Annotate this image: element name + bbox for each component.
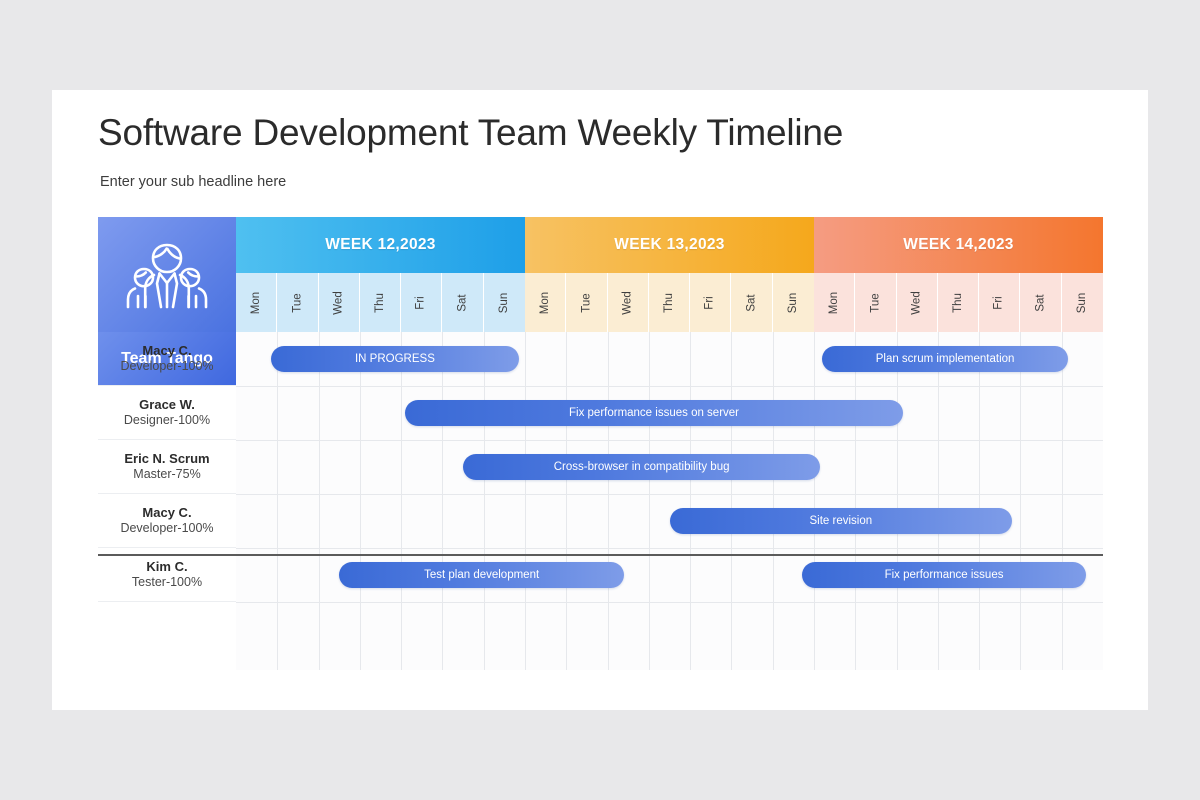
day-label: Mon (539, 291, 551, 313)
grid-line-vertical (319, 332, 320, 670)
resource-name: Macy C. (142, 505, 191, 521)
grid-line-vertical (1020, 332, 1021, 670)
day-label: Fri (704, 296, 716, 309)
day-cell-sun: Sun (484, 273, 525, 332)
grid-line-vertical (277, 332, 278, 670)
day-label: Wed (911, 291, 923, 314)
day-cell-fri: Fri (690, 273, 731, 332)
page-title: Software Development Team Weekly Timelin… (98, 112, 843, 154)
grid-line-vertical (938, 332, 939, 670)
day-cell-mon: Mon (236, 273, 277, 332)
resource-role: Developer-100% (120, 359, 213, 375)
gantt-task-bar[interactable]: Cross-browser in compatibility bug (463, 454, 820, 480)
week-header-12-label: WEEK 12,2023 (325, 236, 435, 254)
resource-row: Grace W.Designer-100% (98, 386, 236, 440)
day-cell-tue: Tue (855, 273, 896, 332)
gantt-task-bar[interactable]: Plan scrum implementation (822, 346, 1068, 372)
team-icon-cell (98, 217, 236, 332)
people-group-icon (124, 236, 210, 314)
grid-line-horizontal (236, 440, 1103, 441)
day-label: Thu (952, 293, 964, 313)
resource-name: Eric N. Scrum (124, 451, 209, 467)
day-label: Mon (828, 291, 840, 313)
grid-line-vertical (566, 332, 567, 670)
timeline-baseline (98, 554, 1103, 556)
resource-name: Macy C. (142, 343, 191, 359)
resource-role: Developer-100% (120, 521, 213, 537)
resource-name: Grace W. (139, 397, 195, 413)
resource-row: Macy C.Developer-100% (98, 494, 236, 548)
week-13-day-row: Mon Tue Wed Thu Fri Sat Sun (525, 273, 814, 332)
grid-line-horizontal (236, 548, 1103, 549)
grid-line-vertical (484, 332, 485, 670)
grid-line-vertical (608, 332, 609, 670)
grid-line-vertical (442, 332, 443, 670)
day-label: Wed (333, 291, 345, 314)
resource-name: Kim C. (146, 559, 187, 575)
week-header-14: WEEK 14,2023 (814, 217, 1103, 273)
grid-line-vertical (401, 332, 402, 670)
day-cell-wed: Wed (319, 273, 360, 332)
grid-line-vertical (897, 332, 898, 670)
day-cell-thu: Thu (360, 273, 401, 332)
grid-line-vertical (814, 332, 815, 670)
day-label: Fri (993, 296, 1005, 309)
grid-line-vertical (855, 332, 856, 670)
gantt-task-bar[interactable]: Fix performance issues on server (405, 400, 902, 426)
day-label: Tue (869, 293, 881, 312)
timeline-header: WEEK 12,2023 WEEK 13,2023 WEEK 14,2023 M… (98, 217, 1103, 332)
day-label: Tue (580, 293, 592, 312)
resource-row: Eric N. ScrumMaster-75% (98, 440, 236, 494)
grid-line-vertical (1062, 332, 1063, 670)
day-label: Tue (291, 293, 303, 312)
week-header-12: WEEK 12,2023 (236, 217, 525, 273)
day-label: Mon (250, 291, 262, 313)
grid-line-horizontal (236, 386, 1103, 387)
day-cell-thu: Thu (938, 273, 979, 332)
grid-line-vertical (690, 332, 691, 670)
gantt-timeline: WEEK 12,2023 WEEK 13,2023 WEEK 14,2023 M… (98, 217, 1103, 670)
day-label: Sun (787, 292, 799, 312)
day-label: Fri (415, 296, 427, 309)
gantt-task-bar[interactable]: IN PROGRESS (271, 346, 519, 372)
week-14-day-row: Mon Tue Wed Thu Fri Sat Sun (814, 273, 1103, 332)
day-cell-sun: Sun (773, 273, 814, 332)
day-label: Sun (1076, 292, 1088, 312)
day-label: Sat (745, 294, 757, 311)
grid-line-vertical (525, 332, 526, 670)
day-cell-tue: Tue (277, 273, 318, 332)
gantt-grid: IN PROGRESSPlan scrum implementationFix … (236, 332, 1103, 670)
day-cell-sun: Sun (1062, 273, 1103, 332)
gantt-task-bar[interactable]: Fix performance issues (802, 562, 1087, 588)
resource-row: Macy C.Developer-100% (98, 332, 236, 386)
day-label: Thu (663, 293, 675, 313)
grid-line-horizontal (236, 602, 1103, 603)
grid-line-horizontal (236, 494, 1103, 495)
gantt-task-bar[interactable]: Site revision (670, 508, 1013, 534)
week-12-day-row: Mon Tue Wed Thu Fri Sat Sun (236, 273, 525, 332)
day-label: Thu (374, 293, 386, 313)
day-label: Sat (456, 294, 468, 311)
day-cell-wed: Wed (608, 273, 649, 332)
resource-row: Kim C.Tester-100% (98, 548, 236, 602)
gantt-task-bar[interactable]: Test plan development (339, 562, 624, 588)
day-label: Sat (1034, 294, 1046, 311)
resource-role: Master-75% (133, 467, 200, 483)
grid-line-vertical (731, 332, 732, 670)
day-cell-fri: Fri (979, 273, 1020, 332)
grid-line-vertical (649, 332, 650, 670)
grid-line-vertical (360, 332, 361, 670)
day-label: Sun (498, 292, 510, 312)
grid-line-vertical (773, 332, 774, 670)
week-header-13: WEEK 13,2023 (525, 217, 814, 273)
week-header-14-label: WEEK 14,2023 (903, 236, 1013, 254)
grid-line-vertical (979, 332, 980, 670)
day-cell-wed: Wed (897, 273, 938, 332)
day-cell-tue: Tue (566, 273, 607, 332)
resource-role: Designer-100% (124, 413, 210, 429)
slide-canvas: Software Development Team Weekly Timelin… (52, 90, 1148, 710)
day-cell-mon: Mon (525, 273, 566, 332)
resource-role: Tester-100% (132, 575, 202, 591)
day-cell-thu: Thu (649, 273, 690, 332)
day-cell-sat: Sat (442, 273, 483, 332)
day-label: Wed (622, 291, 634, 314)
day-cell-sat: Sat (1020, 273, 1061, 332)
page-subtitle: Enter your sub headline here (100, 174, 286, 190)
week-header-13-label: WEEK 13,2023 (614, 236, 724, 254)
day-cell-fri: Fri (401, 273, 442, 332)
day-cell-sat: Sat (731, 273, 772, 332)
day-cell-mon: Mon (814, 273, 855, 332)
